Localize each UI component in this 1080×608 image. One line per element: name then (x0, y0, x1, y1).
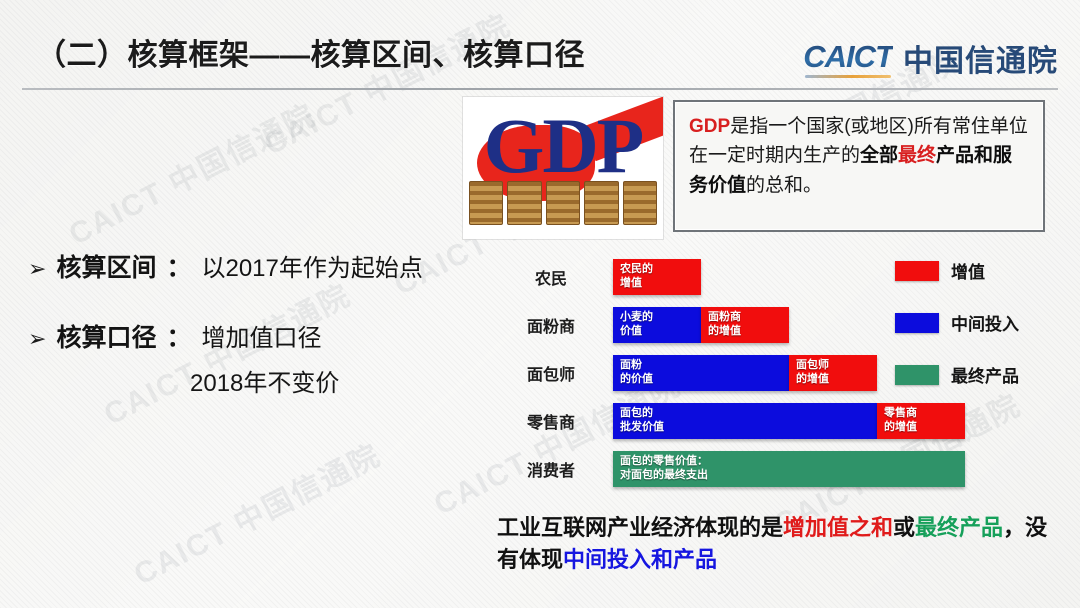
conclusion-text: 工业互联网产业经济体现的是增加值之和或最终产品，没有体现中间投入和产品 (497, 512, 1067, 576)
constant-price-note: 2018年不变价 (190, 363, 339, 398)
chart-bar-label: 农民的 增值 (620, 263, 653, 291)
page-title: （二）核算框架——核算区间、核算口径 (36, 30, 585, 74)
watermark: CAICT 中国信通院 (125, 431, 387, 594)
chart-bar-label: 面粉 的价值 (620, 359, 653, 387)
chart-bar-segment: 农民的 增值 (613, 259, 701, 295)
slide-canvas: CAICT 中国信通院 CAICT 中国信通院 CAICT 中国信通院 CAIC… (0, 0, 1080, 608)
bullet-key: 核算区间 (56, 248, 156, 284)
coin-stack (546, 181, 580, 225)
coin-stack (469, 181, 503, 225)
conclusion-intermediate: 中间投入和产品 (563, 547, 717, 572)
chart-row-label: 面包师 (505, 351, 597, 395)
chart-row-label: 消费者 (505, 447, 597, 491)
bullet-value: 增加值口径 (201, 318, 321, 353)
chart-bar-segment: 面包的 批发价值 (613, 403, 877, 439)
chart-row-label: 农民 (505, 255, 597, 299)
logo-latin-text: CAICT (803, 39, 893, 78)
chart-bar-label: 小麦的 价值 (620, 311, 653, 339)
gdp-emphasis-all: 全部 (860, 145, 898, 166)
chart-bar-label: 面包的 批发价值 (620, 407, 664, 435)
chart-bar-label: 面包的零售价值： 对面包的最终支出 (620, 455, 708, 483)
coin-stack (584, 181, 618, 225)
gdp-definition-box: GDP是指一个国家(或地区)所有常住单位在一定时期内生产的全部最终产品和服务价值… (673, 100, 1045, 232)
chart-legend: 增值中间投入最终产品 (895, 258, 1065, 414)
coin-stack (623, 181, 657, 225)
conclusion-final-product: 最终产品 (915, 515, 1003, 540)
coin-stacks-icon (469, 181, 657, 225)
bullet-accounting-scope: ➢ 核算口径 ： 增加值口径 (28, 318, 321, 354)
bullet-marker-icon: ➢ (28, 256, 46, 282)
gdp-letters: GDP (463, 107, 663, 185)
legend-label: 增值 (951, 258, 985, 283)
caict-logo: CAICT 中国信通院 (803, 36, 1058, 80)
chart-bar-segment: 小麦的 价值 (613, 307, 701, 343)
legend-item: 最终产品 (895, 362, 1065, 387)
bullet-accounting-period: ➢ 核算区间 ： 以2017年作为起始点 (28, 248, 423, 284)
chart-bar-label: 面包师 的增值 (796, 359, 829, 387)
chart-row-label: 面粉商 (505, 303, 597, 347)
conclusion-value-added: 增加值之和 (783, 515, 893, 540)
legend-swatch-value_added (895, 261, 939, 281)
legend-item: 中间投入 (895, 310, 1065, 335)
gdp-definition-tail: 的总和。 (746, 175, 822, 196)
conclusion-part-1: 工业互联网产业经济体现的是 (497, 515, 783, 540)
legend-label: 中间投入 (951, 310, 1019, 335)
gdp-emphasis-final: 最终 (898, 145, 936, 166)
bullet-key: 核算口径 (56, 318, 156, 354)
bullet-value: 以2017年作为起始点 (201, 248, 422, 283)
chart-row-label: 零售商 (505, 399, 597, 443)
chart-bar-segment: 面粉商 的增值 (701, 307, 789, 343)
conclusion-or: 或 (893, 515, 915, 540)
gdp-term: GDP (689, 116, 730, 137)
legend-swatch-final_product (895, 365, 939, 385)
chart-bar-label: 面粉商 的增值 (708, 311, 741, 339)
chart-row: 消费者面包的零售价值： 对面包的最终支出 (505, 447, 975, 491)
legend-item: 增值 (895, 258, 1065, 283)
chart-bar-segment: 面粉 的价值 (613, 355, 789, 391)
bullet-marker-icon: ➢ (28, 326, 46, 352)
bullet-separator: ： (166, 248, 191, 284)
coin-stack (507, 181, 541, 225)
logo-chinese-text: 中国信通院 (903, 36, 1058, 80)
header-divider (22, 88, 1058, 90)
legend-label: 最终产品 (951, 362, 1019, 387)
legend-swatch-intermediate (895, 313, 939, 333)
chart-bar-segment: 面包师 的增值 (789, 355, 877, 391)
chart-bar-segment: 面包的零售价值： 对面包的最终支出 (613, 451, 965, 487)
gdp-illustration: GDP (463, 97, 663, 239)
bullet-separator: ： (166, 318, 191, 354)
watermark: CAICT 中国信通院 (60, 91, 322, 254)
